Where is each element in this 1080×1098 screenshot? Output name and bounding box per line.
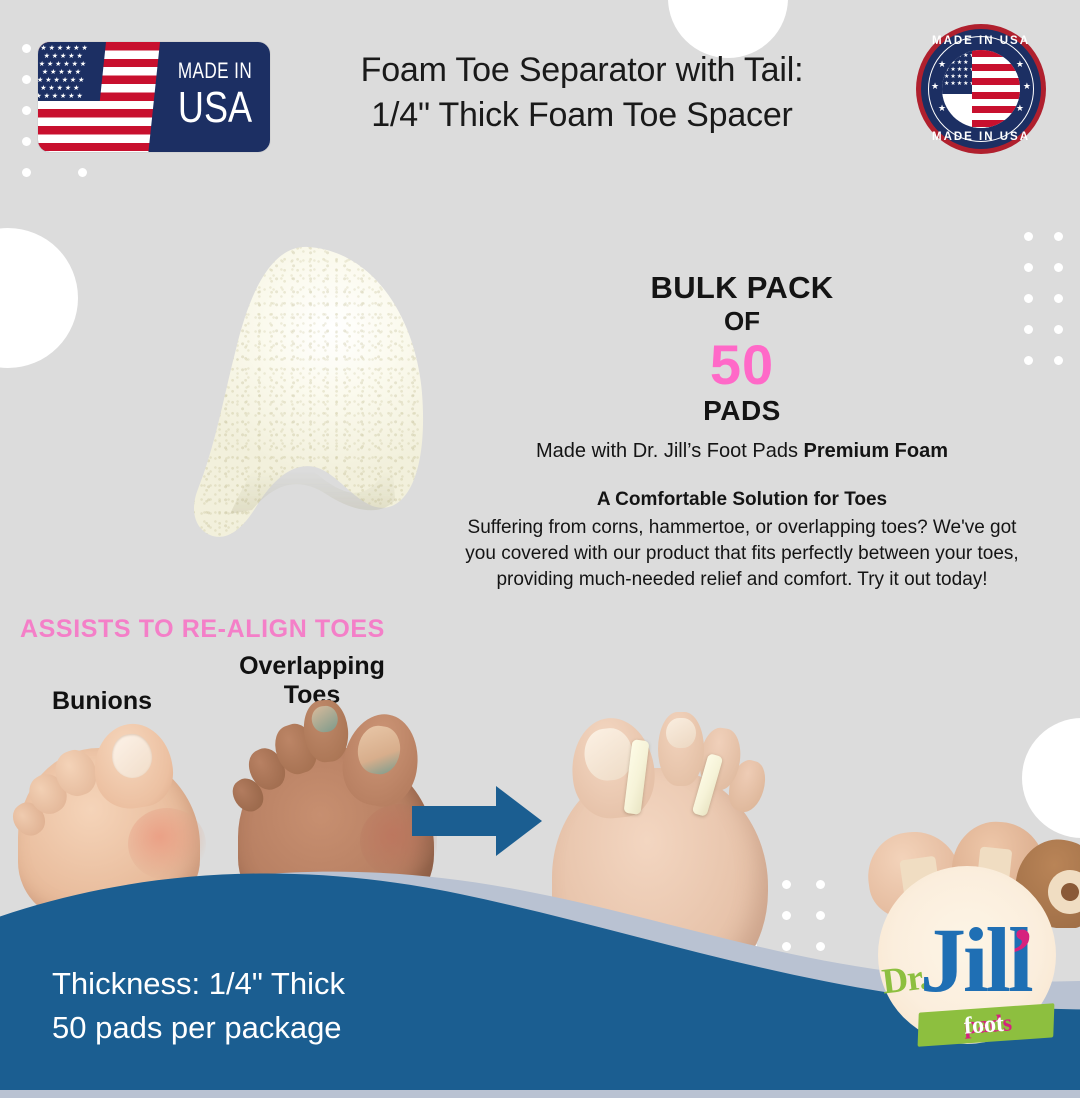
- decorative-circle-left: [0, 228, 78, 368]
- page-title: Foam Toe Separator with Tail: 1/4" Thick…: [282, 48, 882, 138]
- flag-badge-line1: MADE IN: [177, 58, 253, 84]
- made-in-usa-flag-badge: ★ ★ ★ ★ ★ ★ ★ ★ ★ ★ ★ ★ ★ ★ ★ ★ ★ ★ ★ ★ …: [38, 42, 270, 152]
- flag-badge-line2: USA: [175, 86, 255, 130]
- label-bunions: Bunions: [52, 687, 152, 716]
- realign-section-title: ASSISTS TO RE-ALIGN TOES: [20, 615, 385, 644]
- infographic-canvas: ★ ★ ★ ★ ★ ★ ★ ★ ★ ★ ★ ★ ★ ★ ★ ★ ★ ★ ★ ★ …: [0, 0, 1080, 1080]
- made-with-prefix: Made with Dr. Jill’s Foot Pads: [536, 440, 804, 462]
- us-flag-canton: ★ ★ ★ ★ ★ ★ ★ ★ ★ ★ ★ ★ ★ ★ ★ ★ ★ ★ ★ ★ …: [38, 42, 106, 101]
- made-with-line: Made with Dr. Jill’s Foot Pads Premium F…: [452, 438, 1032, 464]
- logo-apostrophe-s: ’: [1010, 918, 1035, 992]
- seal-arc-bottom: MADE IN USA: [916, 131, 1046, 143]
- header: ★ ★ ★ ★ ★ ★ ★ ★ ★ ★ ★ ★ ★ ★ ★ ★ ★ ★ ★ ★ …: [0, 0, 1080, 175]
- copy-body-text: Suffering from corns, hammertoe, or over…: [452, 515, 1032, 593]
- seal-flag-disc: ★★★★★★★★★★★★★★★★★★★★★★★: [942, 50, 1020, 128]
- title-line-1: Foam Toe Separator with Tail:: [282, 48, 882, 93]
- footer-specs: Thickness: 1/4" Thick 50 pads per packag…: [52, 962, 345, 1050]
- seal-arc-top: MADE IN USA: [916, 35, 1046, 47]
- bulk-pack-line3: PADS: [452, 394, 1032, 428]
- footer-line-2: 50 pads per package: [52, 1006, 345, 1050]
- dot-pattern-right: [1024, 232, 1080, 387]
- right-arrow-icon: [412, 786, 542, 856]
- foam-toe-separator-photo: [150, 235, 460, 555]
- dr-jills-foot-pads-logo: Dr. Jill ’ footpads: [856, 818, 1080, 1058]
- made-in-usa-seal: ★ ★ ★ ★ ★ ★ MADE IN USA MADE IN USA ★★★★…: [916, 24, 1046, 154]
- bulk-pack-line2: OF: [452, 306, 1032, 336]
- bulk-quantity: 50: [452, 336, 1032, 394]
- bulk-pack-line1: BULK PACK: [452, 270, 1032, 306]
- made-with-bold: Premium Foam: [804, 440, 948, 462]
- copy-sub-heading: A Comfortable Solution for Toes: [452, 488, 1032, 512]
- flag-badge-text: MADE IN USA: [166, 58, 264, 130]
- title-line-2: 1/4" Thick Foam Toe Spacer: [282, 93, 882, 138]
- footer-line-1: Thickness: 1/4" Thick: [52, 962, 345, 1006]
- product-copy-block: BULK PACK OF 50 PADS Made with Dr. Jill’…: [452, 270, 1032, 593]
- logo-apostrophe: ’: [1010, 914, 1035, 996]
- logo-foot-text: foot: [963, 1009, 1005, 1042]
- us-flag-stripes: ★ ★ ★ ★ ★ ★ ★ ★ ★ ★ ★ ★ ★ ★ ★ ★ ★ ★ ★ ★ …: [38, 42, 160, 152]
